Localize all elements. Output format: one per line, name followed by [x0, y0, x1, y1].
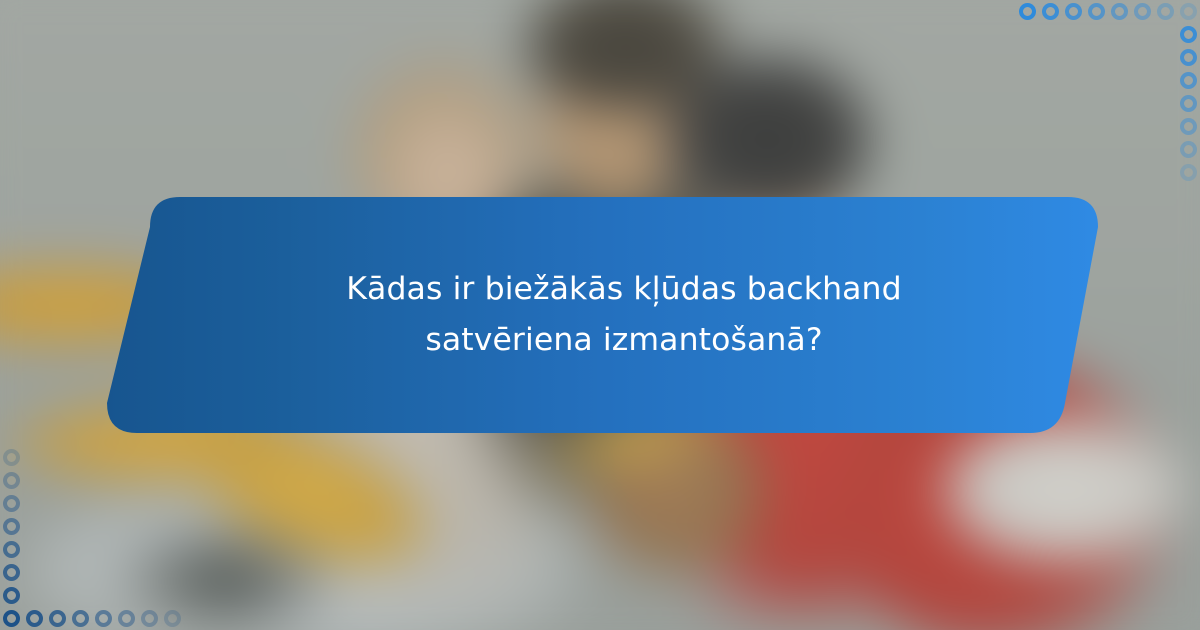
headline-banner: Kādas ir biežākās kļūdas backhand satvēr… [0, 0, 1200, 630]
share-card-canvas: Kādas ir biežākās kļūdas backhand satvēr… [0, 0, 1200, 630]
headline-line-2: satvēriena izmantošanā? [425, 315, 822, 366]
headline-line-1: Kādas ir biežākās kļūdas backhand [346, 264, 901, 315]
headline-text-block: Kādas ir biežākās kļūdas backhand satvēr… [150, 197, 1098, 433]
